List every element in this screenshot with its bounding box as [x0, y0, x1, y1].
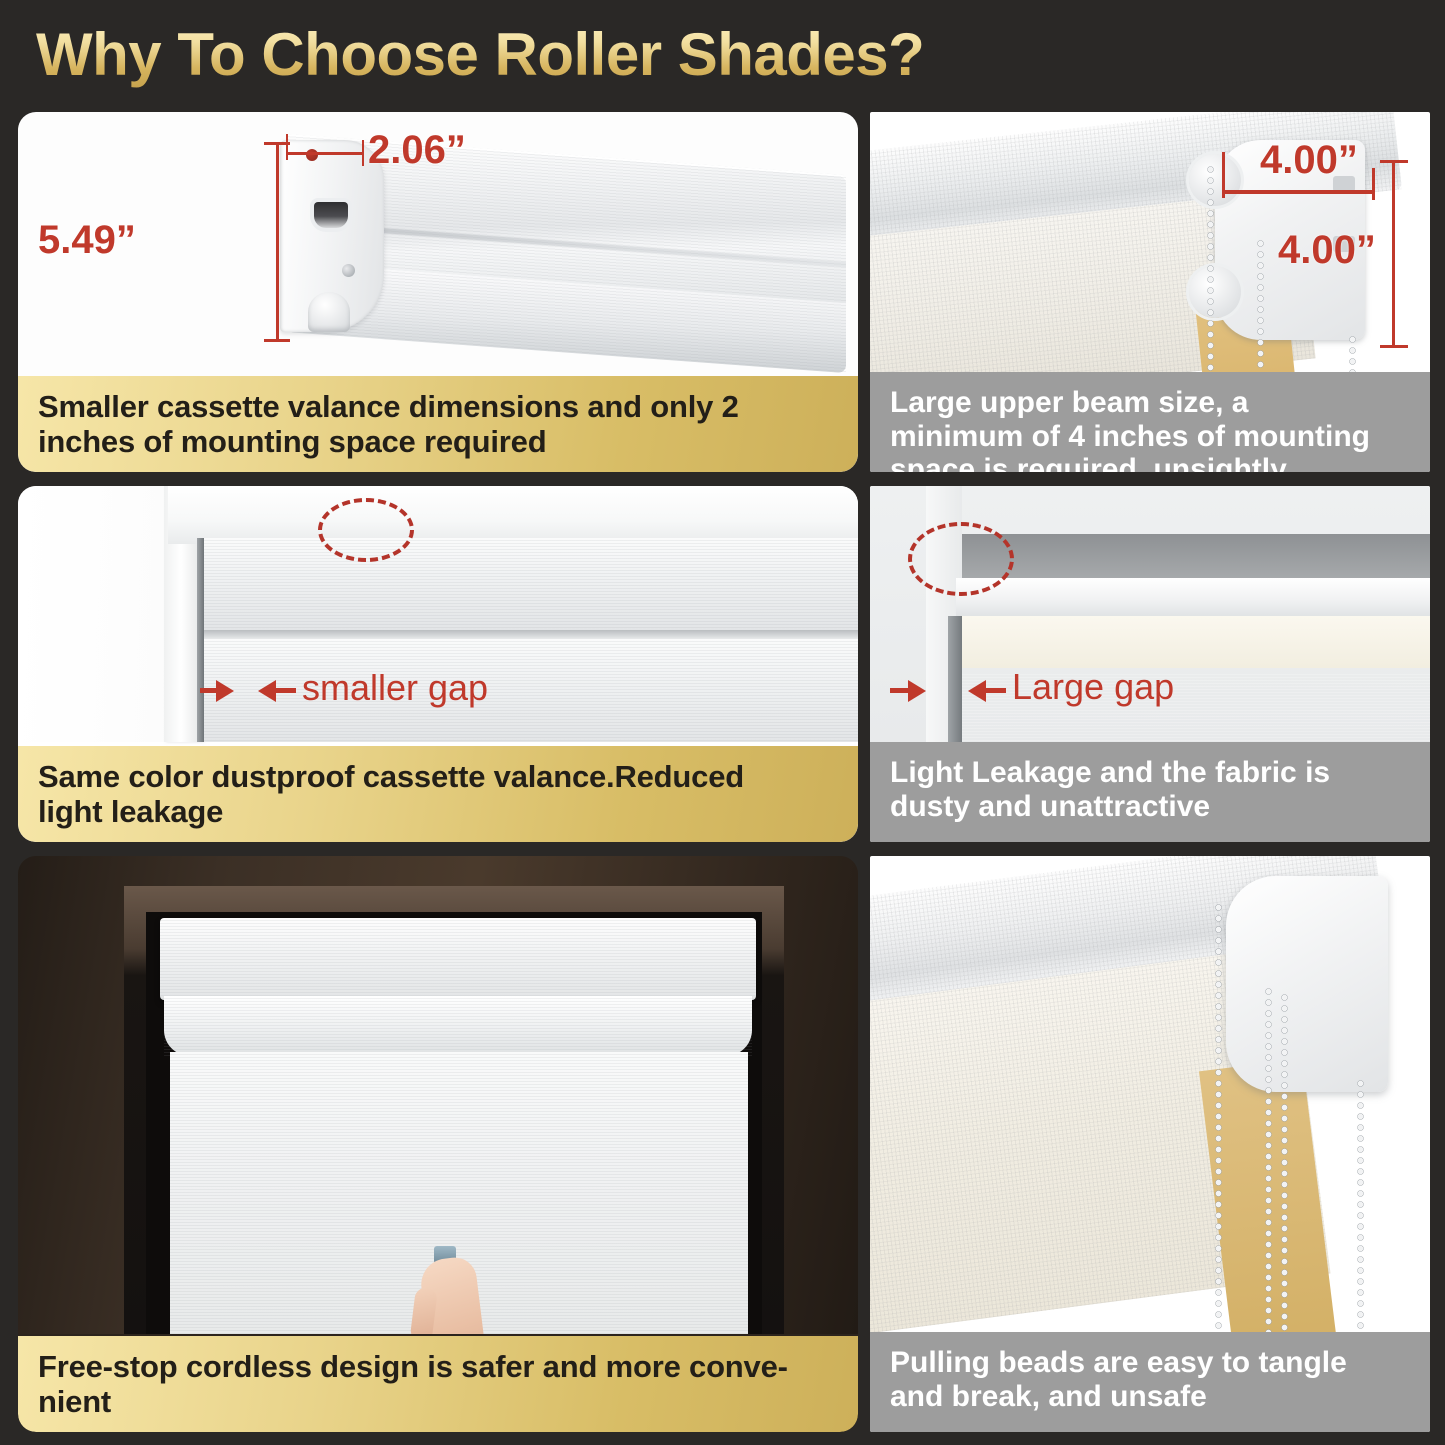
bead-chain-left [1206, 164, 1215, 372]
gap-arrow-left-icon [908, 680, 926, 702]
light-leakage-photo: Large gap [870, 486, 1430, 742]
caption-line-2: light leakage [38, 795, 838, 830]
bead-chain-right [1348, 334, 1357, 372]
bead-chain-middle-2 [1280, 992, 1289, 1332]
brushed-texture [160, 918, 756, 1000]
panel-light-leakage: Large gap Light Leakage and the fabric i… [870, 486, 1430, 842]
valance-band-upper [204, 538, 858, 630]
bracket-pulley-lower [1189, 266, 1241, 318]
caption-line-1: Smaller cassette valance dimensions and … [38, 390, 838, 425]
panel-large-upper-beam: 4.00” 4.00” Large upper beam size, a min… [870, 112, 1430, 472]
caption-line-2: inches of mounting space required [38, 425, 838, 460]
smaller-gap-label: smaller gap [302, 667, 488, 709]
caption-line-1: Free-stop cordless design is safer and m… [38, 1350, 838, 1385]
gap-arrow-left-icon [216, 680, 234, 702]
room-window-photo [18, 856, 858, 1334]
beam-height-cap-top [1380, 160, 1408, 163]
window-head-trim [168, 486, 858, 544]
panel-caption-cordless-design: Free-stop cordless design is safer and m… [18, 1336, 858, 1432]
panel-dustproof-valance: smaller gap Same color dustproof cassett… [18, 486, 858, 842]
bracket-pulley-upper [1189, 154, 1241, 206]
bead-chain-middle [1256, 238, 1265, 372]
width-dimension-tick-right [362, 140, 364, 166]
end-cap-slot [314, 202, 348, 228]
light-gap-strip [948, 616, 962, 742]
panel-caption-smaller-cassette: Smaller cassette valance dimensions and … [18, 376, 858, 472]
gap-highlight-ellipse [908, 522, 1014, 596]
caption-line-3: space is required, unsightly [890, 453, 1410, 472]
large-beam-photo: 4.00” 4.00” [870, 112, 1430, 372]
window-valance-photo: smaller gap [18, 486, 858, 746]
light-gap-strip [197, 538, 204, 742]
panel-smaller-cassette: 2.06” 5.49” Smaller cassette valance dim… [18, 112, 858, 472]
beam-width-dimension-line [1222, 190, 1374, 194]
caption-line-1: Light Leakage and the fabric is [890, 756, 1410, 790]
panel-caption-dustproof-valance: Same color dustproof cassette valance.Re… [18, 746, 858, 842]
gap-arrow-right-stem [274, 688, 296, 693]
large-gap-label: Large gap [1012, 666, 1174, 708]
brushed-texture [164, 996, 752, 1056]
shadow-band [962, 534, 1430, 584]
screw-icon [342, 264, 355, 277]
beam-width-tick-right [1372, 168, 1375, 200]
panel-grid: 2.06” 5.49” Smaller cassette valance dim… [0, 0, 1445, 1445]
gap-highlight-ellipse [318, 498, 414, 562]
panel-cordless-design: Free-stop cordless design is safer and m… [18, 856, 858, 1432]
beam-width-dimension-label: 4.00” [1260, 138, 1358, 183]
bead-chain-middle [1264, 986, 1273, 1332]
brushed-texture [204, 538, 858, 630]
height-dimension-cap-top [264, 142, 290, 145]
bead-chain-right [1356, 1078, 1365, 1332]
bead-chain-photo [870, 856, 1430, 1332]
height-dimension-cap-bottom [264, 339, 290, 342]
panel-caption-light-leakage: Light Leakage and the fabric is dusty an… [870, 742, 1430, 842]
cassette-valance-photo: 2.06” 5.49” [18, 112, 858, 376]
bead-chain-left [1214, 902, 1223, 1332]
caption-line-1: Pulling beads are easy to tangle [890, 1346, 1410, 1380]
width-dimension-tick-left [286, 134, 288, 160]
infographic-root: Why To Choose Roller Shades? 2.06” [0, 0, 1445, 1445]
caption-line-1: Large upper beam size, a [890, 386, 1410, 420]
caption-line-2: dusty and unattractive [890, 790, 1410, 824]
roller-wheel [308, 292, 350, 332]
panel-caption-pulling-beads: Pulling beads are easy to tangle and bre… [870, 1332, 1430, 1432]
beam-height-dimension-label: 4.00” [1278, 228, 1376, 273]
gap-arrow-left-stem [200, 688, 218, 693]
cassette-valance [160, 918, 756, 1000]
panel-caption-large-upper-beam: Large upper beam size, a minimum of 4 in… [870, 372, 1430, 472]
caption-line-1: Same color dustproof cassette valance.Re… [38, 760, 838, 795]
valance-rail [204, 630, 858, 639]
caption-line-2: nient [38, 1385, 838, 1420]
beam-width-tick-left [1222, 152, 1225, 198]
cream-fabric-band [962, 616, 1430, 668]
valance-front-lip [164, 996, 752, 1056]
width-dimension-line [286, 152, 364, 155]
mounting-bracket [1226, 876, 1388, 1092]
beam-height-dimension-line [1392, 160, 1395, 348]
red-screw-dot-icon [306, 149, 318, 161]
beam-height-cap-bottom [1380, 345, 1408, 348]
caption-line-2: and break, and unsafe [890, 1380, 1410, 1414]
caption-line-2: minimum of 4 inches of mounting [890, 420, 1410, 454]
width-dimension-label: 2.06” [368, 128, 466, 173]
height-dimension-line [276, 142, 279, 342]
height-dimension-label: 5.49” [38, 218, 136, 263]
panel-pulling-beads: Pulling beads are easy to tangle and bre… [870, 856, 1430, 1432]
gap-arrow-right-stem [984, 688, 1006, 693]
gap-arrow-left-stem [890, 688, 910, 693]
